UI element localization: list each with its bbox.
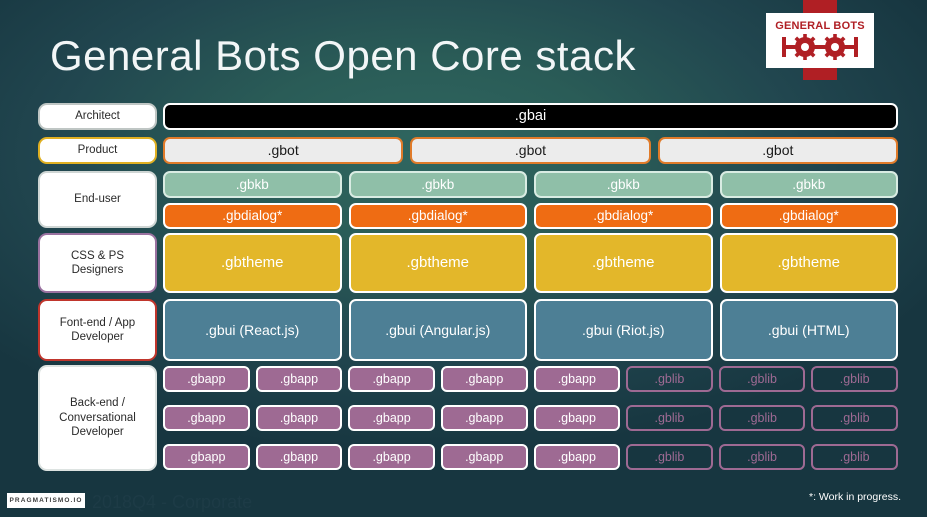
cell-gbot[interactable]: .gbot [658, 137, 898, 164]
cell-gbtheme[interactable]: .gbtheme [534, 233, 713, 293]
cell-gbapp[interactable]: .gbapp [348, 366, 435, 392]
cell-gblib[interactable]: .gblib [719, 405, 806, 431]
cell-gbapp[interactable]: .gbapp [163, 405, 250, 431]
cell-gbui-html[interactable]: .gbui (HTML) [720, 299, 899, 361]
pragmatismo-logo: PRAGMATISMO.IO [7, 493, 85, 508]
cell-gbapp[interactable]: .gbapp [256, 366, 343, 392]
cell-gbdialog[interactable]: .gbdialog* [534, 203, 713, 229]
role-label: Product [78, 143, 118, 157]
role-product: Product [38, 137, 157, 164]
cell-gbapp[interactable]: .gbapp [441, 405, 528, 431]
role-label: Font-end / App Developer [44, 316, 151, 345]
cell-gblib[interactable]: .gblib [719, 444, 806, 470]
cell-gbui-angular[interactable]: .gbui (Angular.js) [349, 299, 528, 361]
row-gbkb: .gbkb .gbkb .gbkb .gbkb [163, 171, 898, 198]
row-gbot: .gbot .gbot .gbot [163, 137, 898, 164]
cell-gblib[interactable]: .gblib [626, 405, 713, 431]
grid-row: .gbapp.gbapp.gbapp.gbapp.gbapp.gblib.gbl… [163, 366, 898, 392]
cell-gblib[interactable]: .gblib [626, 366, 713, 392]
cell-gbapp[interactable]: .gbapp [534, 444, 621, 470]
cell-gblib[interactable]: .gblib [811, 366, 898, 392]
row-gbdialog: .gbdialog* .gbdialog* .gbdialog* .gbdial… [163, 203, 898, 229]
cell-gbapp[interactable]: .gbapp [441, 366, 528, 392]
cell-gbapp[interactable]: .gbapp [348, 405, 435, 431]
general-bots-logo: GENERAL BOTS [766, 13, 874, 68]
cell-gbui-riot[interactable]: .gbui (Riot.js) [534, 299, 713, 361]
slide-canvas: General Bots Open Core stack GENERAL BOT… [0, 0, 927, 517]
cell-gbdialog[interactable]: .gbdialog* [163, 203, 342, 229]
cell-gbot[interactable]: .gbot [163, 137, 403, 164]
row-gbtheme: .gbtheme .gbtheme .gbtheme .gbtheme [163, 233, 898, 293]
pragmatismo-logo-text: PRAGMATISMO.IO [9, 497, 82, 504]
role-label: Architect [75, 109, 120, 123]
footnote-work-in-progress: *: Work in progress. [809, 491, 901, 503]
general-bots-logo-text: GENERAL BOTS [775, 21, 865, 32]
cell-gbui-react[interactable]: .gbui (React.js) [163, 299, 342, 361]
cell-gbtheme[interactable]: .gbtheme [349, 233, 528, 293]
cell-gblib[interactable]: .gblib [811, 405, 898, 431]
row-gbui: .gbui (React.js) .gbui (Angular.js) .gbu… [163, 299, 898, 361]
role-label: CSS & PS Designers [44, 249, 151, 278]
role-architect: Architect [38, 103, 157, 130]
cell-gbapp[interactable]: .gbapp [163, 366, 250, 392]
cell-gbapp[interactable]: .gbapp [441, 444, 528, 470]
footer: PRAGMATISMO.IO 2018Q4 - Corporate *: Wor… [0, 480, 927, 517]
role-label: Back-end / Conversational Developer [44, 396, 151, 439]
cell-gblib[interactable]: .gblib [626, 444, 713, 470]
cell-gbapp[interactable]: .gbapp [256, 444, 343, 470]
cell-gblib[interactable]: .gblib [811, 444, 898, 470]
cell-gbdialog[interactable]: .gbdialog* [349, 203, 528, 229]
cell-gbkb[interactable]: .gbkb [720, 171, 899, 198]
grid-row: .gbapp.gbapp.gbapp.gbapp.gbapp.gblib.gbl… [163, 405, 898, 431]
role-frontend-app-developer: Font-end / App Developer [38, 299, 157, 361]
cell-gbot[interactable]: .gbot [410, 137, 650, 164]
cell-gblib[interactable]: .gblib [719, 366, 806, 392]
cell-gbapp[interactable]: .gbapp [534, 366, 621, 392]
row-gbai: .gbai [163, 103, 898, 130]
gears-icon [779, 34, 861, 60]
grid-row: .gbapp.gbapp.gbapp.gbapp.gbapp.gblib.gbl… [163, 444, 898, 470]
role-css-ps-designers: CSS & PS Designers [38, 233, 157, 293]
cell-gbapp[interactable]: .gbapp [534, 405, 621, 431]
cell-gbtheme[interactable]: .gbtheme [720, 233, 899, 293]
cell-gbkb[interactable]: .gbkb [163, 171, 342, 198]
cell-gbapp[interactable]: .gbapp [348, 444, 435, 470]
role-end-user: End-user [38, 171, 157, 228]
role-label: End-user [74, 192, 121, 206]
cell-gbkb[interactable]: .gbkb [349, 171, 528, 198]
page-title: General Bots Open Core stack [50, 32, 636, 80]
cell-gbkb[interactable]: .gbkb [534, 171, 713, 198]
cell-gbtheme[interactable]: .gbtheme [163, 233, 342, 293]
footer-label: 2018Q4 - Corporate [92, 492, 252, 513]
cell-gbdialog[interactable]: .gbdialog* [720, 203, 899, 229]
role-backend-conversational-developer: Back-end / Conversational Developer [38, 365, 157, 471]
cell-gbapp[interactable]: .gbapp [163, 444, 250, 470]
cell-gbapp[interactable]: .gbapp [256, 405, 343, 431]
cell-gbai[interactable]: .gbai [163, 103, 898, 130]
